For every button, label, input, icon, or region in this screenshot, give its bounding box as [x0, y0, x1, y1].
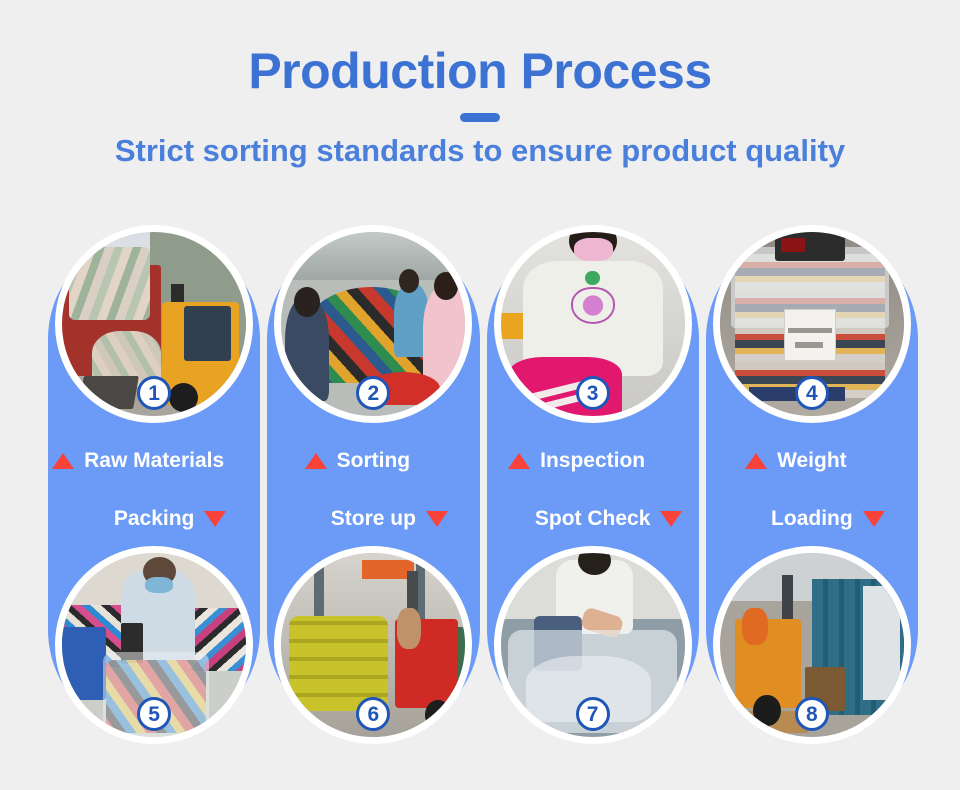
step-label-row-8: Loading: [706, 507, 918, 531]
process-column-3: 3 Inspection Spot Check 7: [487, 233, 699, 736]
title-divider: [460, 113, 500, 122]
photo-raw-materials[interactable]: 1: [55, 225, 253, 423]
step-label-row-5: Packing: [48, 507, 260, 531]
photo-store-up[interactable]: 6: [274, 546, 472, 744]
step-badge-7: 7: [576, 697, 610, 731]
photo-packing[interactable]: 5: [55, 546, 253, 744]
up-triangle-icon: [508, 453, 530, 469]
process-column-4: 4 Weight Loading 8: [706, 233, 918, 736]
up-triangle-icon: [52, 453, 74, 469]
page-title: Production Process: [0, 44, 960, 99]
step-label-6: Store up: [331, 507, 416, 531]
up-triangle-icon: [305, 453, 327, 469]
photo-spot-check[interactable]: 7: [494, 546, 692, 744]
step-label-5: Packing: [114, 507, 195, 531]
photo-sorting[interactable]: 2: [274, 225, 472, 423]
step-label-row-1: Raw Materials: [48, 449, 260, 473]
step-label-7: Spot Check: [535, 507, 651, 531]
step-badge-2: 2: [356, 376, 390, 410]
step-label-row-7: Spot Check: [487, 507, 699, 531]
step-badge-3: 3: [576, 376, 610, 410]
step-label-8: Loading: [771, 507, 853, 531]
up-triangle-icon: [745, 453, 767, 469]
down-triangle-icon: [863, 511, 885, 527]
step-label-2: Sorting: [337, 449, 411, 473]
photo-weight[interactable]: 4: [713, 225, 911, 423]
down-triangle-icon: [204, 511, 226, 527]
process-column-1: 1 Raw Materials Packing 5: [48, 233, 260, 736]
process-steps-grid: 1 Raw Materials Packing 5: [48, 233, 918, 736]
step-label-1: Raw Materials: [84, 449, 224, 473]
step-label-4: Weight: [777, 449, 847, 473]
step-badge-8: 8: [795, 697, 829, 731]
step-badge-1: 1: [137, 376, 171, 410]
process-column-2: 2 Sorting Store up 6: [267, 233, 479, 736]
page-header: Production Process Strict sorting standa…: [0, 0, 960, 169]
down-triangle-icon: [660, 511, 682, 527]
step-label-row-2: Sorting: [267, 449, 479, 473]
step-badge-6: 6: [356, 697, 390, 731]
step-label-3: Inspection: [540, 449, 645, 473]
step-badge-5: 5: [137, 697, 171, 731]
down-triangle-icon: [426, 511, 448, 527]
photo-loading[interactable]: 8: [713, 546, 911, 744]
page-subtitle: Strict sorting standards to ensure produ…: [0, 132, 960, 169]
step-label-row-4: Weight: [706, 449, 918, 473]
step-badge-4: 4: [795, 376, 829, 410]
photo-inspection[interactable]: 3: [494, 225, 692, 423]
step-label-row-3: Inspection: [487, 449, 699, 473]
step-label-row-6: Store up: [267, 507, 479, 531]
